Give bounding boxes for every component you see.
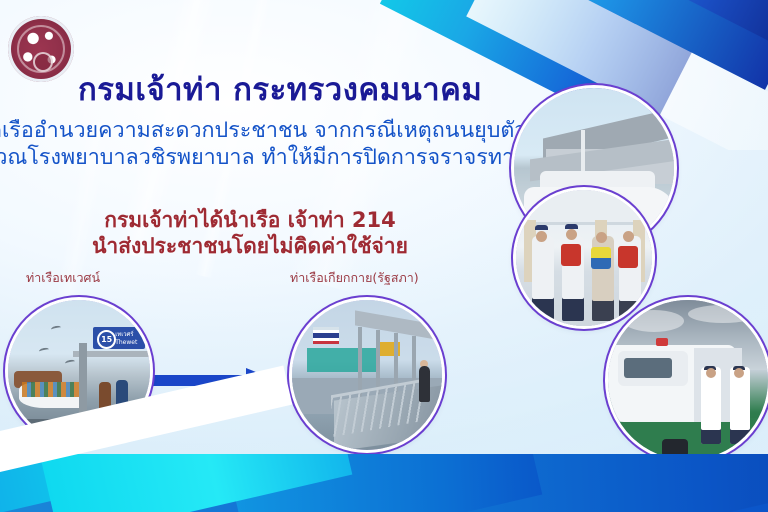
officer <box>532 236 554 320</box>
bird <box>64 359 75 366</box>
officers-on-boat-photo <box>608 300 768 460</box>
life-vest <box>591 247 611 269</box>
destination-pier-label: ท่าเรือเกียกกาย(รัฐสภา) <box>290 268 419 288</box>
highlight-block: กรมเจ้าท่าได้นำเรือ เจ้าท่า 214 นำส่งประ… <box>40 208 460 259</box>
poster-canvas: กรมเจ้าท่า กระทรวงคมนาคม ัดเรืออำนวยความ… <box>0 0 768 512</box>
origin-pier-label: ท่าเรือเทเวศน์ <box>26 268 100 288</box>
highlight-line-2: นำส่งประชาชนโดยไม่คิดค่าใช้จ่าย <box>40 234 460 260</box>
boat-light <box>656 338 668 346</box>
pier-sign-number: 15 <box>97 330 116 349</box>
pier-kiakkai-photo <box>292 300 442 450</box>
bird <box>39 347 50 354</box>
seal-core <box>33 52 53 72</box>
crowd <box>22 382 79 396</box>
officer <box>730 367 750 444</box>
highlight-line-1: กรมเจ้าท่าได้นำเรือ เจ้าท่า 214 <box>104 208 396 232</box>
marine-department-seal-icon <box>8 16 74 82</box>
bottom-ribbon-decoration <box>0 454 768 512</box>
officer-head <box>706 368 716 378</box>
pier-sign: 15 เทเวศร์ Thewet <box>93 327 145 349</box>
life-vest <box>618 246 638 268</box>
bird <box>50 325 61 332</box>
canopy-roof <box>355 310 442 340</box>
cabin-window <box>624 358 672 379</box>
person <box>419 366 430 402</box>
officer-cap <box>565 224 578 229</box>
cloud <box>624 310 684 332</box>
photo-content <box>608 300 768 460</box>
photo-content <box>292 300 442 450</box>
life-vest <box>561 244 581 266</box>
officer <box>701 367 721 444</box>
cloud <box>688 305 758 323</box>
subtitle-line-1: ัดเรืออำนวยความสะดวกประชาชน จากกรณีเหตุถ… <box>0 118 526 143</box>
thai-flag-icon <box>313 327 339 344</box>
pier-sign-text: เทเวศร์ Thewet <box>115 331 137 347</box>
officer-cap <box>535 225 548 230</box>
ceiling <box>516 190 652 225</box>
banner <box>307 348 379 372</box>
